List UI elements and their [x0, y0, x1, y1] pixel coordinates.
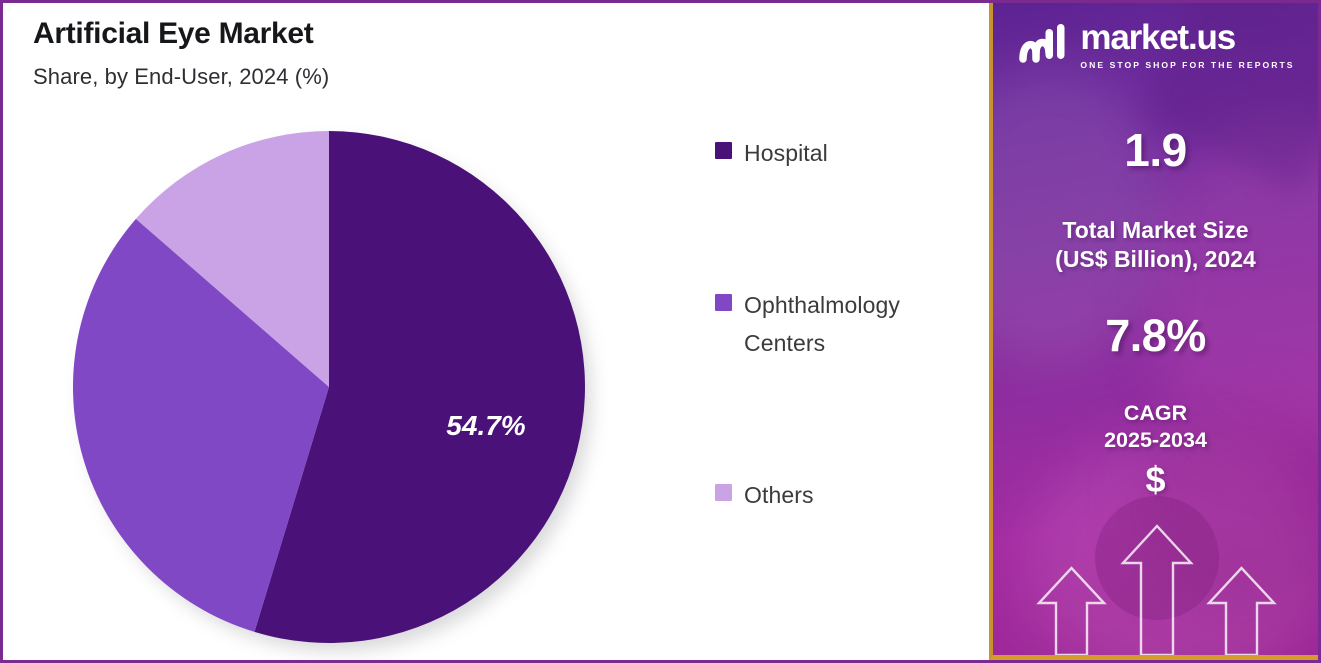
page-subtitle: Share, by End-User, 2024 (%) [33, 64, 329, 90]
market-size-caption-line-2: (US$ Billion), 2024 [993, 245, 1318, 274]
arrow-up-icon [1209, 568, 1274, 655]
legend-swatch-others [715, 484, 732, 501]
legend-item-hospital[interactable]: Hospital [715, 135, 973, 172]
pie-chart-svg: 54.7% [71, 129, 599, 657]
title-block: Artificial Eye Market Share, by End-User… [33, 17, 329, 90]
legend: Hospital Ophthalmology Centers Others [715, 135, 973, 629]
legend-label-hospital: Hospital [744, 135, 828, 172]
legend-label-others: Others [744, 477, 814, 514]
brand-logo[interactable]: market.us ONE STOP SHOP FOR THE REPORTS [993, 19, 1318, 70]
stats-panel: market.us ONE STOP SHOP FOR THE REPORTS … [989, 3, 1318, 660]
growth-arrows-group [993, 455, 1318, 655]
pie-slice-label-hospital: 54.7% [446, 410, 525, 441]
cagr-value: 7.8% [993, 310, 1318, 362]
logo-tagline: ONE STOP SHOP FOR THE REPORTS [1080, 60, 1294, 70]
cagr-caption: CAGR 2025-2034 [993, 400, 1318, 454]
logo-wordmark: market.us [1080, 18, 1235, 57]
legend-item-others[interactable]: Others [715, 477, 973, 514]
legend-swatch-ophthalmology-centers [715, 294, 732, 311]
legend-swatch-hospital [715, 142, 732, 159]
market-us-bars-icon [1016, 19, 1068, 70]
infographic-root: Artificial Eye Market Share, by End-User… [0, 0, 1321, 663]
market-size-value: 1.9 [993, 123, 1318, 177]
market-size-caption-line-1: Total Market Size [993, 216, 1318, 245]
legend-label-ophthalmology-centers: Ophthalmology Centers [744, 287, 973, 362]
chart-panel: Artificial Eye Market Share, by End-User… [3, 3, 989, 660]
pie-chart: 54.7% [71, 129, 599, 657]
growth-graphic: $ [993, 455, 1318, 655]
arrow-up-icon [1039, 568, 1104, 655]
cagr-caption-line-2: 2025-2034 [993, 427, 1318, 454]
legend-item-ophthalmology-centers[interactable]: Ophthalmology Centers [715, 287, 973, 362]
cagr-caption-line-1: CAGR [993, 400, 1318, 427]
logo-text: market.us ONE STOP SHOP FOR THE REPORTS [1080, 20, 1294, 70]
market-size-caption: Total Market Size (US$ Billion), 2024 [993, 216, 1318, 274]
page-title: Artificial Eye Market [33, 17, 329, 51]
